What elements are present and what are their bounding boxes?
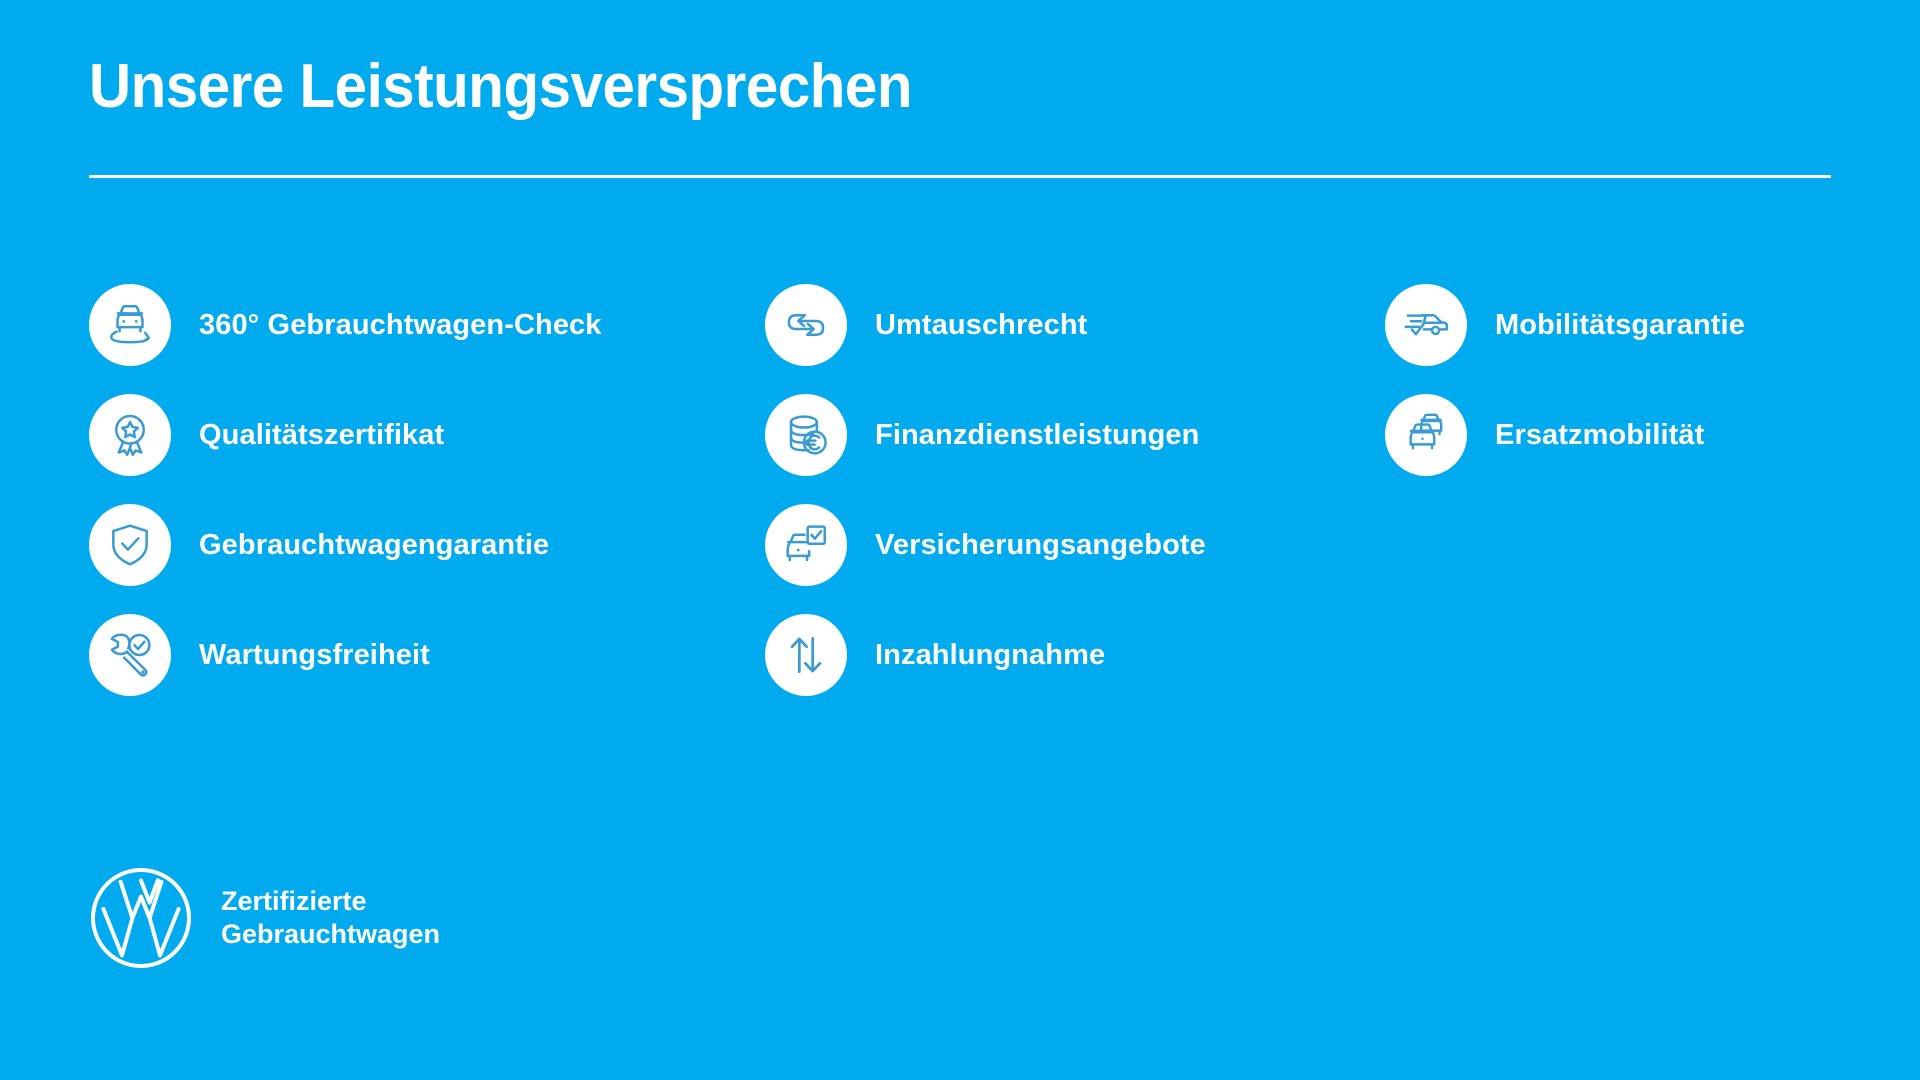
car-speed-check-icon	[1385, 284, 1467, 366]
two-cars-icon	[1385, 394, 1467, 476]
feature-item-umtauschrecht[interactable]: Umtauschrecht	[765, 270, 1206, 380]
feature-label: Ersatzmobilität	[1495, 419, 1704, 452]
wrench-check-icon	[89, 614, 171, 696]
feature-item-qualitaetszertifikat[interactable]: Qualitätszertifikat	[89, 380, 602, 490]
award-rosette-icon	[89, 394, 171, 476]
shield-check-icon	[89, 504, 171, 586]
feature-column-2: Umtauschrecht Finanzdienstleistungen	[765, 270, 1206, 710]
car-360-check-icon	[89, 284, 171, 366]
page-title: Unsere Leistungsversprechen	[89, 56, 912, 118]
feature-label: 360° Gebrauchtwagen-Check	[199, 309, 602, 342]
feature-label: Umtauschrecht	[875, 309, 1087, 342]
feature-item-ersatzmobilitaet[interactable]: Ersatzmobilität	[1385, 380, 1745, 490]
slide-canvas: Unsere Leistungsversprechen 360° Gebrauc…	[0, 0, 1920, 1080]
title-divider	[89, 175, 1831, 178]
feature-item-versicherungsangebote[interactable]: Versicherungsangebote	[765, 490, 1206, 600]
brand-lockup[interactable]: Zertifizierte Gebrauchtwagen	[89, 866, 440, 970]
coins-euro-icon	[765, 394, 847, 476]
feature-label: Mobilitätsgarantie	[1495, 309, 1745, 342]
volkswagen-logo	[89, 866, 193, 970]
feature-label: Wartungsfreiheit	[199, 639, 430, 672]
feature-item-finanzdienstleistungen[interactable]: Finanzdienstleistungen	[765, 380, 1206, 490]
feature-label: Qualitätszertifikat	[199, 419, 444, 452]
exchange-arrows-icon	[765, 284, 847, 366]
feature-item-inzahlungnahme[interactable]: Inzahlungnahme	[765, 600, 1206, 710]
feature-item-wartungsfreiheit[interactable]: Wartungsfreiheit	[89, 600, 602, 710]
feature-column-3: Mobilitätsgarantie Ersatzmobilität	[1385, 270, 1745, 490]
feature-label: Versicherungsangebote	[875, 529, 1206, 562]
feature-label: Gebrauchtwagengarantie	[199, 529, 549, 562]
feature-item-mobilitaetsgarantie[interactable]: Mobilitätsgarantie	[1385, 270, 1745, 380]
feature-column-1: 360° Gebrauchtwagen-Check Qualitätszerti…	[89, 270, 602, 710]
arrows-up-down-icon	[765, 614, 847, 696]
feature-item-360-check[interactable]: 360° Gebrauchtwagen-Check	[89, 270, 602, 380]
feature-label: Inzahlungnahme	[875, 639, 1105, 672]
feature-label: Finanzdienstleistungen	[875, 419, 1199, 452]
brand-text: Zertifizierte Gebrauchtwagen	[221, 885, 440, 951]
car-checkbox-icon	[765, 504, 847, 586]
feature-item-gebrauchtwagengarantie[interactable]: Gebrauchtwagengarantie	[89, 490, 602, 600]
